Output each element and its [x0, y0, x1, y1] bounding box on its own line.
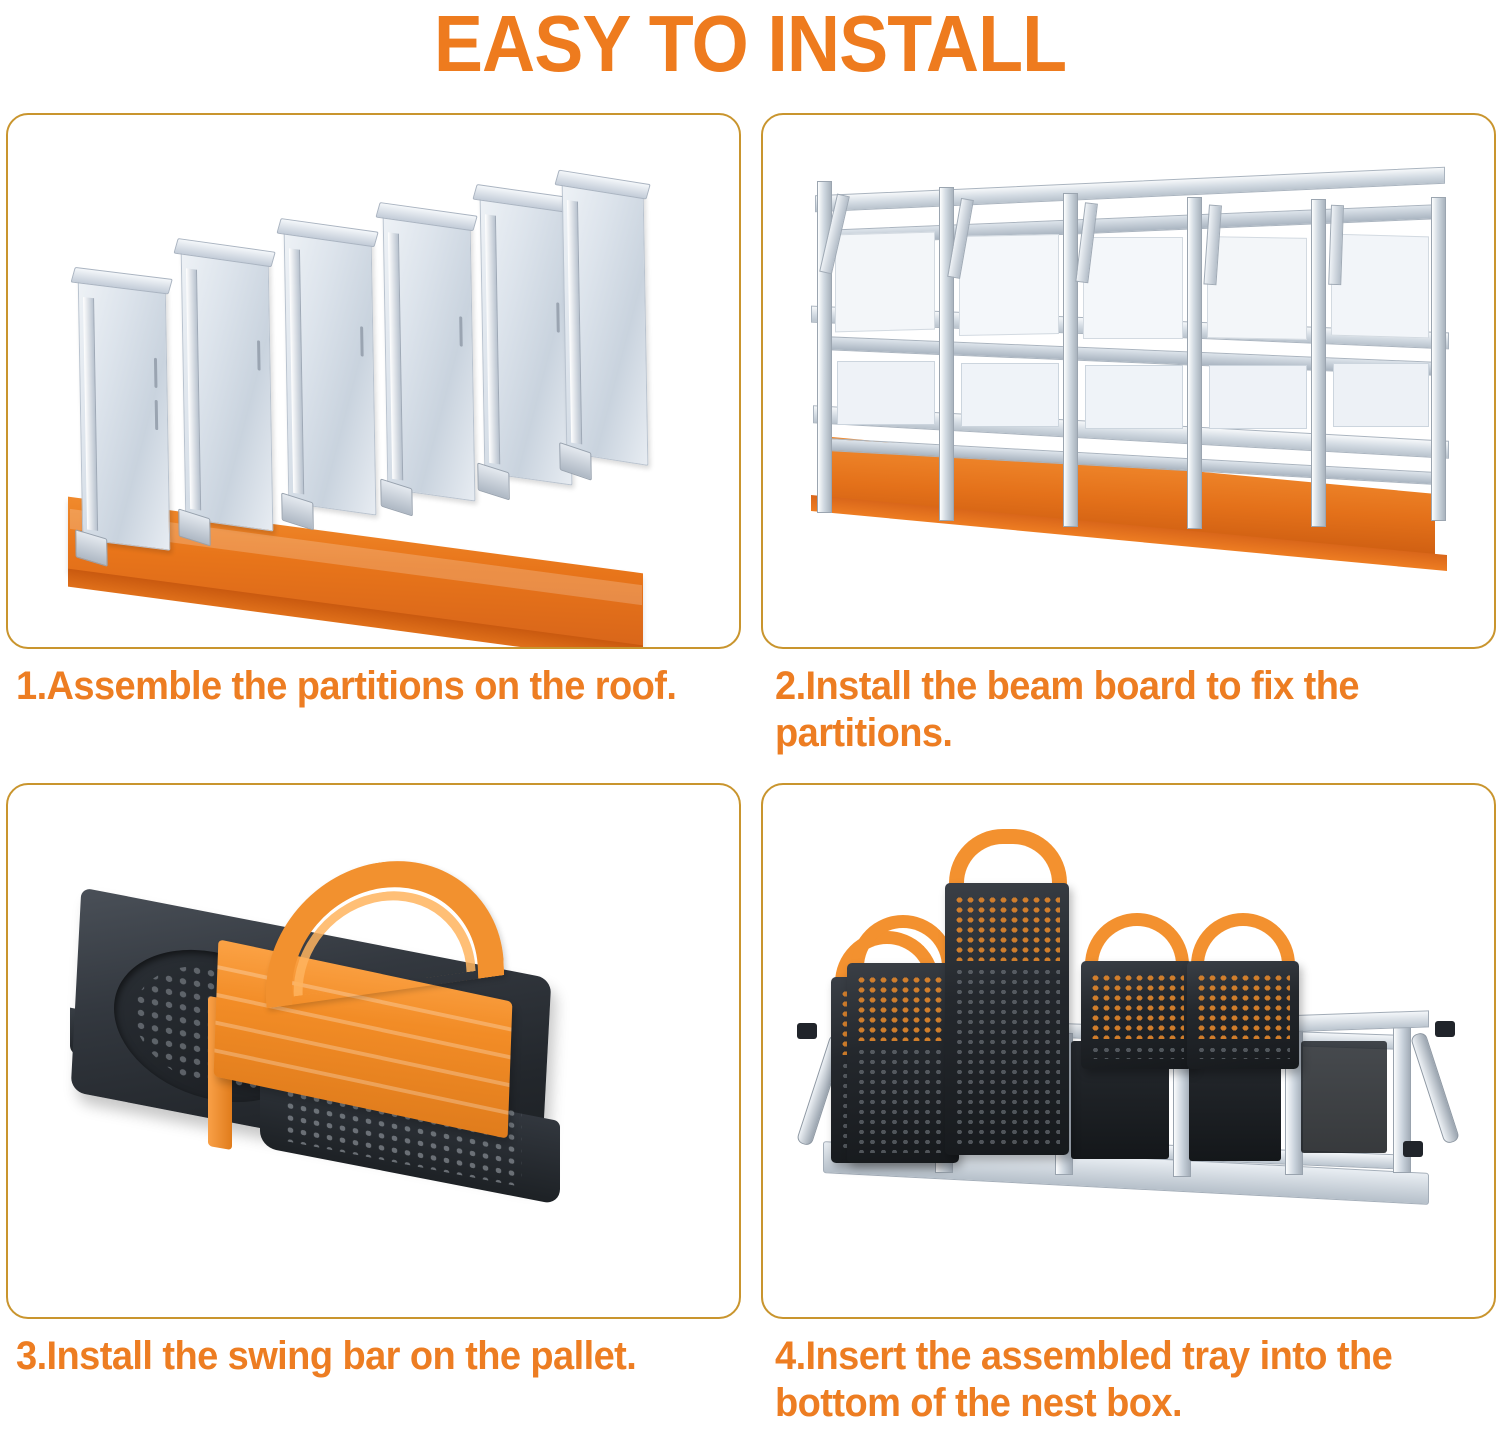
partition-foot	[380, 478, 413, 516]
partition-slot	[556, 302, 560, 333]
tray-perforations	[1196, 973, 1290, 1039]
partition-plate	[1207, 236, 1307, 340]
partition-cap	[554, 170, 650, 200]
partition-cap	[472, 184, 574, 213]
partition-cap	[276, 218, 378, 247]
vertical-post	[939, 187, 954, 521]
step-3-illustration	[8, 785, 739, 1317]
step-4-caption: 4.Insert the assembled tray into the bot…	[775, 1333, 1459, 1427]
partition-plate	[562, 180, 649, 466]
partition-cap	[375, 202, 477, 231]
partition-slot	[257, 340, 261, 371]
infographic-page: EASY TO INSTALL	[0, 0, 1500, 1440]
vertical-post	[1431, 197, 1446, 521]
step-4-image-panel	[761, 783, 1496, 1319]
partition-rib	[388, 232, 403, 480]
step-2-image-panel	[761, 113, 1496, 649]
partition-plate	[181, 248, 274, 531]
swing-bar-tip	[1403, 1141, 1423, 1157]
step-2-caption: 2.Install the beam board to fix the part…	[775, 663, 1459, 757]
partition-slot	[155, 400, 159, 430]
partition-plate	[284, 228, 377, 515]
step-2-illustration	[763, 115, 1494, 647]
partition-rib	[83, 297, 98, 531]
partition-rib	[485, 214, 500, 464]
step-1-image-panel	[6, 113, 741, 649]
partition-rib	[186, 268, 201, 510]
vertical-post	[1063, 193, 1078, 527]
empty-bay	[1301, 1041, 1387, 1153]
tray-perforations	[954, 895, 1060, 961]
swing-bar	[1410, 1031, 1460, 1144]
assembled-tray	[1081, 961, 1193, 1069]
partition-plate	[383, 212, 476, 501]
partition-plate	[959, 234, 1059, 336]
swing-bar-tip	[797, 1023, 817, 1039]
step-4-illustration	[763, 785, 1494, 1317]
tray-perforations	[856, 975, 950, 1041]
partition-cap	[173, 238, 275, 267]
partition-foot	[477, 462, 510, 500]
bay-panel	[837, 361, 935, 425]
corner-brace	[1328, 205, 1344, 285]
swing-bar-groove	[215, 1021, 509, 1087]
tray-perforations	[1090, 973, 1184, 1039]
bay-panel	[1209, 365, 1307, 429]
assembled-tray	[945, 883, 1069, 1155]
tray-perforations	[954, 967, 1060, 1145]
partition-slot	[459, 316, 463, 347]
swing-bar-groove	[216, 993, 510, 1059]
assembled-tray	[847, 963, 959, 1163]
vertical-post	[1187, 197, 1202, 529]
step-3-image-panel	[6, 783, 741, 1319]
step-1-illustration	[8, 115, 739, 647]
step-3-caption: 3.Install the swing bar on the pallet.	[16, 1333, 700, 1380]
tray-perforations	[1090, 1045, 1184, 1059]
partition-slot	[154, 358, 158, 388]
step-1-caption: 1.Assemble the partitions on the roof.	[16, 663, 700, 710]
vertical-post	[1311, 199, 1326, 527]
assembled-tray	[1187, 961, 1299, 1069]
partition-rib	[289, 248, 304, 494]
partition-plate	[1083, 237, 1183, 339]
bay-panel	[1333, 363, 1429, 427]
partition-slot	[360, 326, 364, 357]
page-title: EASY TO INSTALL	[60, 0, 1440, 92]
bay-panel	[961, 363, 1059, 427]
partition-plate	[835, 232, 935, 333]
bay-panel	[1085, 365, 1183, 429]
partition-plate	[78, 277, 171, 550]
tray-perforations	[1196, 1045, 1290, 1059]
tray-perforations	[856, 1047, 950, 1153]
partition-cap	[71, 267, 173, 295]
partition-rib	[567, 200, 582, 444]
swing-bar-tip	[1435, 1021, 1455, 1037]
partition-plate	[1331, 234, 1429, 339]
beam-board	[815, 167, 1445, 213]
